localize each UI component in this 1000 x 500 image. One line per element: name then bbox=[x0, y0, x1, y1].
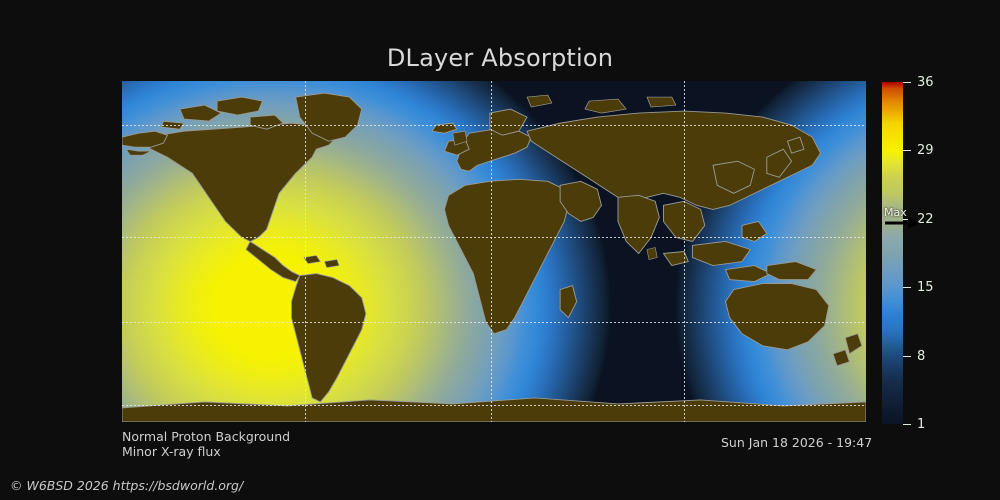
colorbar-axis-label: Affected Frequency (MHz) bbox=[921, 82, 1000, 424]
map-canvas[interactable] bbox=[122, 81, 866, 422]
tick-dash bbox=[903, 287, 911, 288]
page-title: DLayer Absorption bbox=[0, 44, 1000, 72]
app-root: DLayer Absorption bbox=[0, 0, 1000, 500]
colorbar-gradient bbox=[882, 82, 903, 424]
max-marker-label: Max bbox=[884, 206, 907, 219]
tick-dash bbox=[903, 356, 911, 357]
colorbar[interactable] bbox=[882, 82, 903, 424]
xray-status-text: Minor X-ray flux bbox=[122, 444, 221, 459]
copyright-text: © W6BSD 2026 https://bsdworld.org/ bbox=[10, 478, 243, 493]
tick-dash bbox=[903, 82, 911, 83]
tick-dash bbox=[903, 150, 911, 151]
world-map-layer bbox=[122, 81, 866, 422]
proton-status-text: Normal Proton Background bbox=[122, 429, 290, 444]
tick-dash bbox=[903, 424, 911, 425]
timestamp-text: Sun Jan 18 2026 - 19:47 bbox=[721, 435, 872, 450]
colorbar-max-marker: Max bbox=[884, 208, 922, 230]
